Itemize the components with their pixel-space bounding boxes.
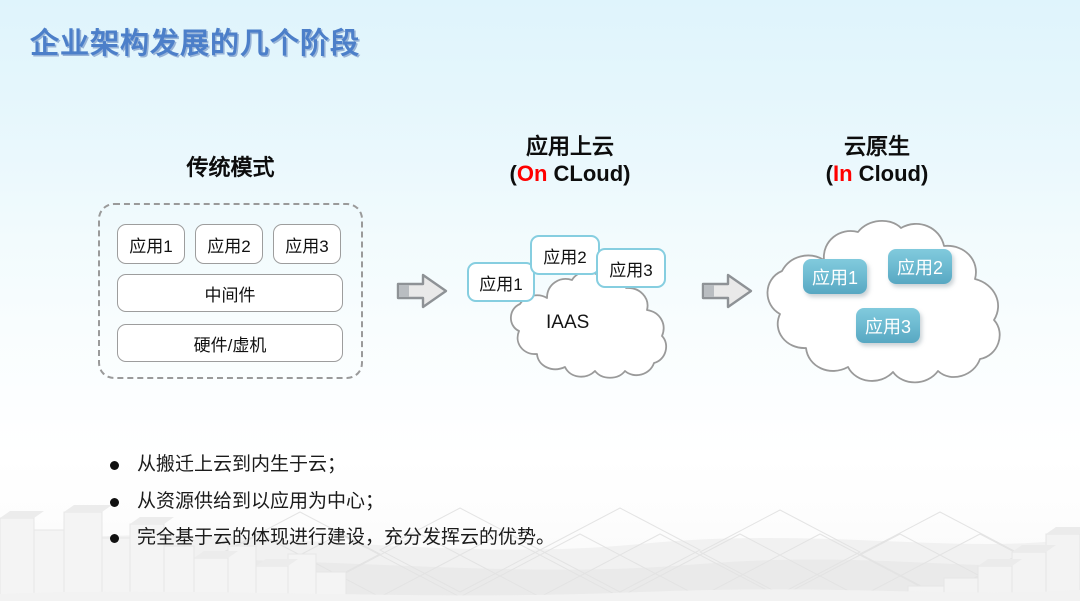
cloud-keyword-in: Cloud) (853, 161, 929, 186)
bullet-list: 从搬迁上云到内生于云； 从资源供给到以应用为中心； 完全基于云的体现进行建设，充… (110, 452, 870, 562)
paren-open-on: ( (510, 161, 517, 186)
bullet-text-1: 从搬迁上云到内生于云； (137, 452, 346, 478)
bullet-text-2: 从资源供给到以应用为中心； (137, 489, 384, 515)
on-cloud-app-3[interactable]: 应用3 (596, 248, 666, 288)
heading-traditional-line1: 传统模式 (98, 155, 363, 182)
right-arrow-icon-1 (396, 272, 448, 310)
traditional-app-3[interactable]: 应用3 (273, 224, 341, 264)
heading-on-cloud-line1: 应用上云 (455, 134, 685, 161)
heading-cloud-native: 云原生 (In Cloud) (762, 134, 992, 188)
traditional-app-1[interactable]: 应用1 (117, 224, 185, 264)
cloud-icon-native (760, 216, 1016, 388)
bullet-dot-icon (110, 534, 119, 543)
bullet-dot-icon (110, 498, 119, 507)
on-cloud-app-2[interactable]: 应用2 (530, 235, 600, 275)
bullet-item-1: 从搬迁上云到内生于云； (110, 452, 870, 478)
cloud-keyword-on: CLoud) (547, 161, 630, 186)
right-arrow-icon-2 (701, 272, 753, 310)
traditional-app-2[interactable]: 应用2 (195, 224, 263, 264)
bullet-item-3: 完全基于云的体现进行建设，充分发挥云的优势。 (110, 525, 870, 551)
slide-title: 企业架构发展的几个阶段 (30, 20, 360, 62)
heading-on-cloud-line2: (On CLoud) (455, 161, 685, 188)
paren-open-in: ( (826, 161, 833, 186)
cloud-native-app-2[interactable]: 应用2 (888, 249, 952, 284)
heading-traditional: 传统模式 (98, 155, 363, 182)
iaas-label: IAAS (546, 312, 589, 334)
bullet-item-2: 从资源供给到以应用为中心； (110, 489, 870, 515)
heading-on-cloud: 应用上云 (On CLoud) (455, 134, 685, 188)
traditional-app-row: 应用1 应用2 应用3 (117, 224, 341, 264)
cloud-native-app-3[interactable]: 应用3 (856, 308, 920, 343)
in-keyword: In (833, 161, 853, 186)
slide-canvas: 企业架构发展的几个阶段 传统模式 应用1 应用2 应用3 中间件 硬件/虚机 应… (0, 0, 1080, 601)
heading-cloud-native-line2: (In Cloud) (762, 161, 992, 188)
on-cloud-app-1[interactable]: 应用1 (467, 262, 535, 302)
traditional-middleware-layer[interactable]: 中间件 (117, 274, 343, 312)
heading-cloud-native-line1: 云原生 (762, 134, 992, 161)
bullet-text-3: 完全基于云的体现进行建设，充分发挥云的优势。 (137, 525, 555, 551)
on-keyword: On (517, 161, 548, 186)
traditional-hardware-layer[interactable]: 硬件/虚机 (117, 324, 343, 362)
cloud-native-app-1[interactable]: 应用1 (803, 259, 867, 294)
bullet-dot-icon (110, 461, 119, 470)
